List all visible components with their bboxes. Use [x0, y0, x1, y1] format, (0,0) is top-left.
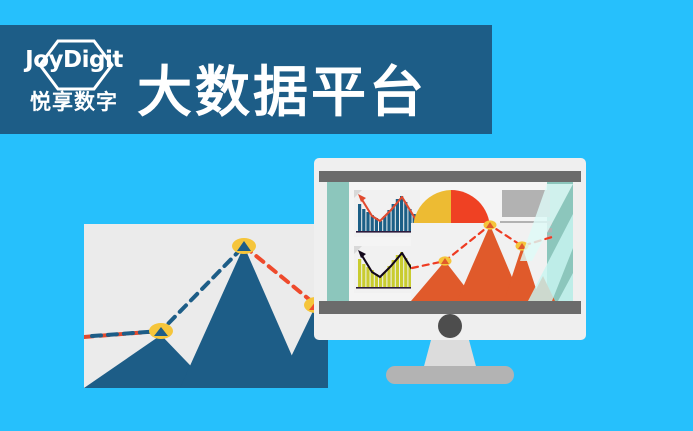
blue-bar-chart-card: [354, 190, 420, 237]
header-banner: JoyDigit 悦享数字 大数据平台: [0, 25, 492, 134]
banner-stage: JoyDigit 悦享数字 大数据平台: [0, 0, 693, 431]
monitor-screen: [327, 182, 573, 301]
monitor-bottom-bar: [319, 301, 581, 314]
logo-block: JoyDigit 悦享数字: [18, 37, 130, 125]
logo-wordmark: JoyDigit: [18, 49, 130, 72]
desktop-monitor: [314, 158, 586, 388]
blue-card-axis: [356, 231, 418, 233]
monitor-stand: [423, 340, 477, 370]
yellow-card-axis: [356, 287, 418, 289]
monitor-base: [386, 366, 514, 384]
monitor-top-bar: [319, 171, 581, 182]
page-title: 大数据平台: [137, 65, 427, 120]
power-button[interactable]: [438, 314, 462, 338]
yellow-bar-chart-card: [354, 246, 420, 293]
mountain-line-chart-panel: [84, 224, 328, 388]
screen-left-strip-top: [327, 182, 349, 301]
logo-subtitle: 悦享数字: [18, 92, 130, 113]
